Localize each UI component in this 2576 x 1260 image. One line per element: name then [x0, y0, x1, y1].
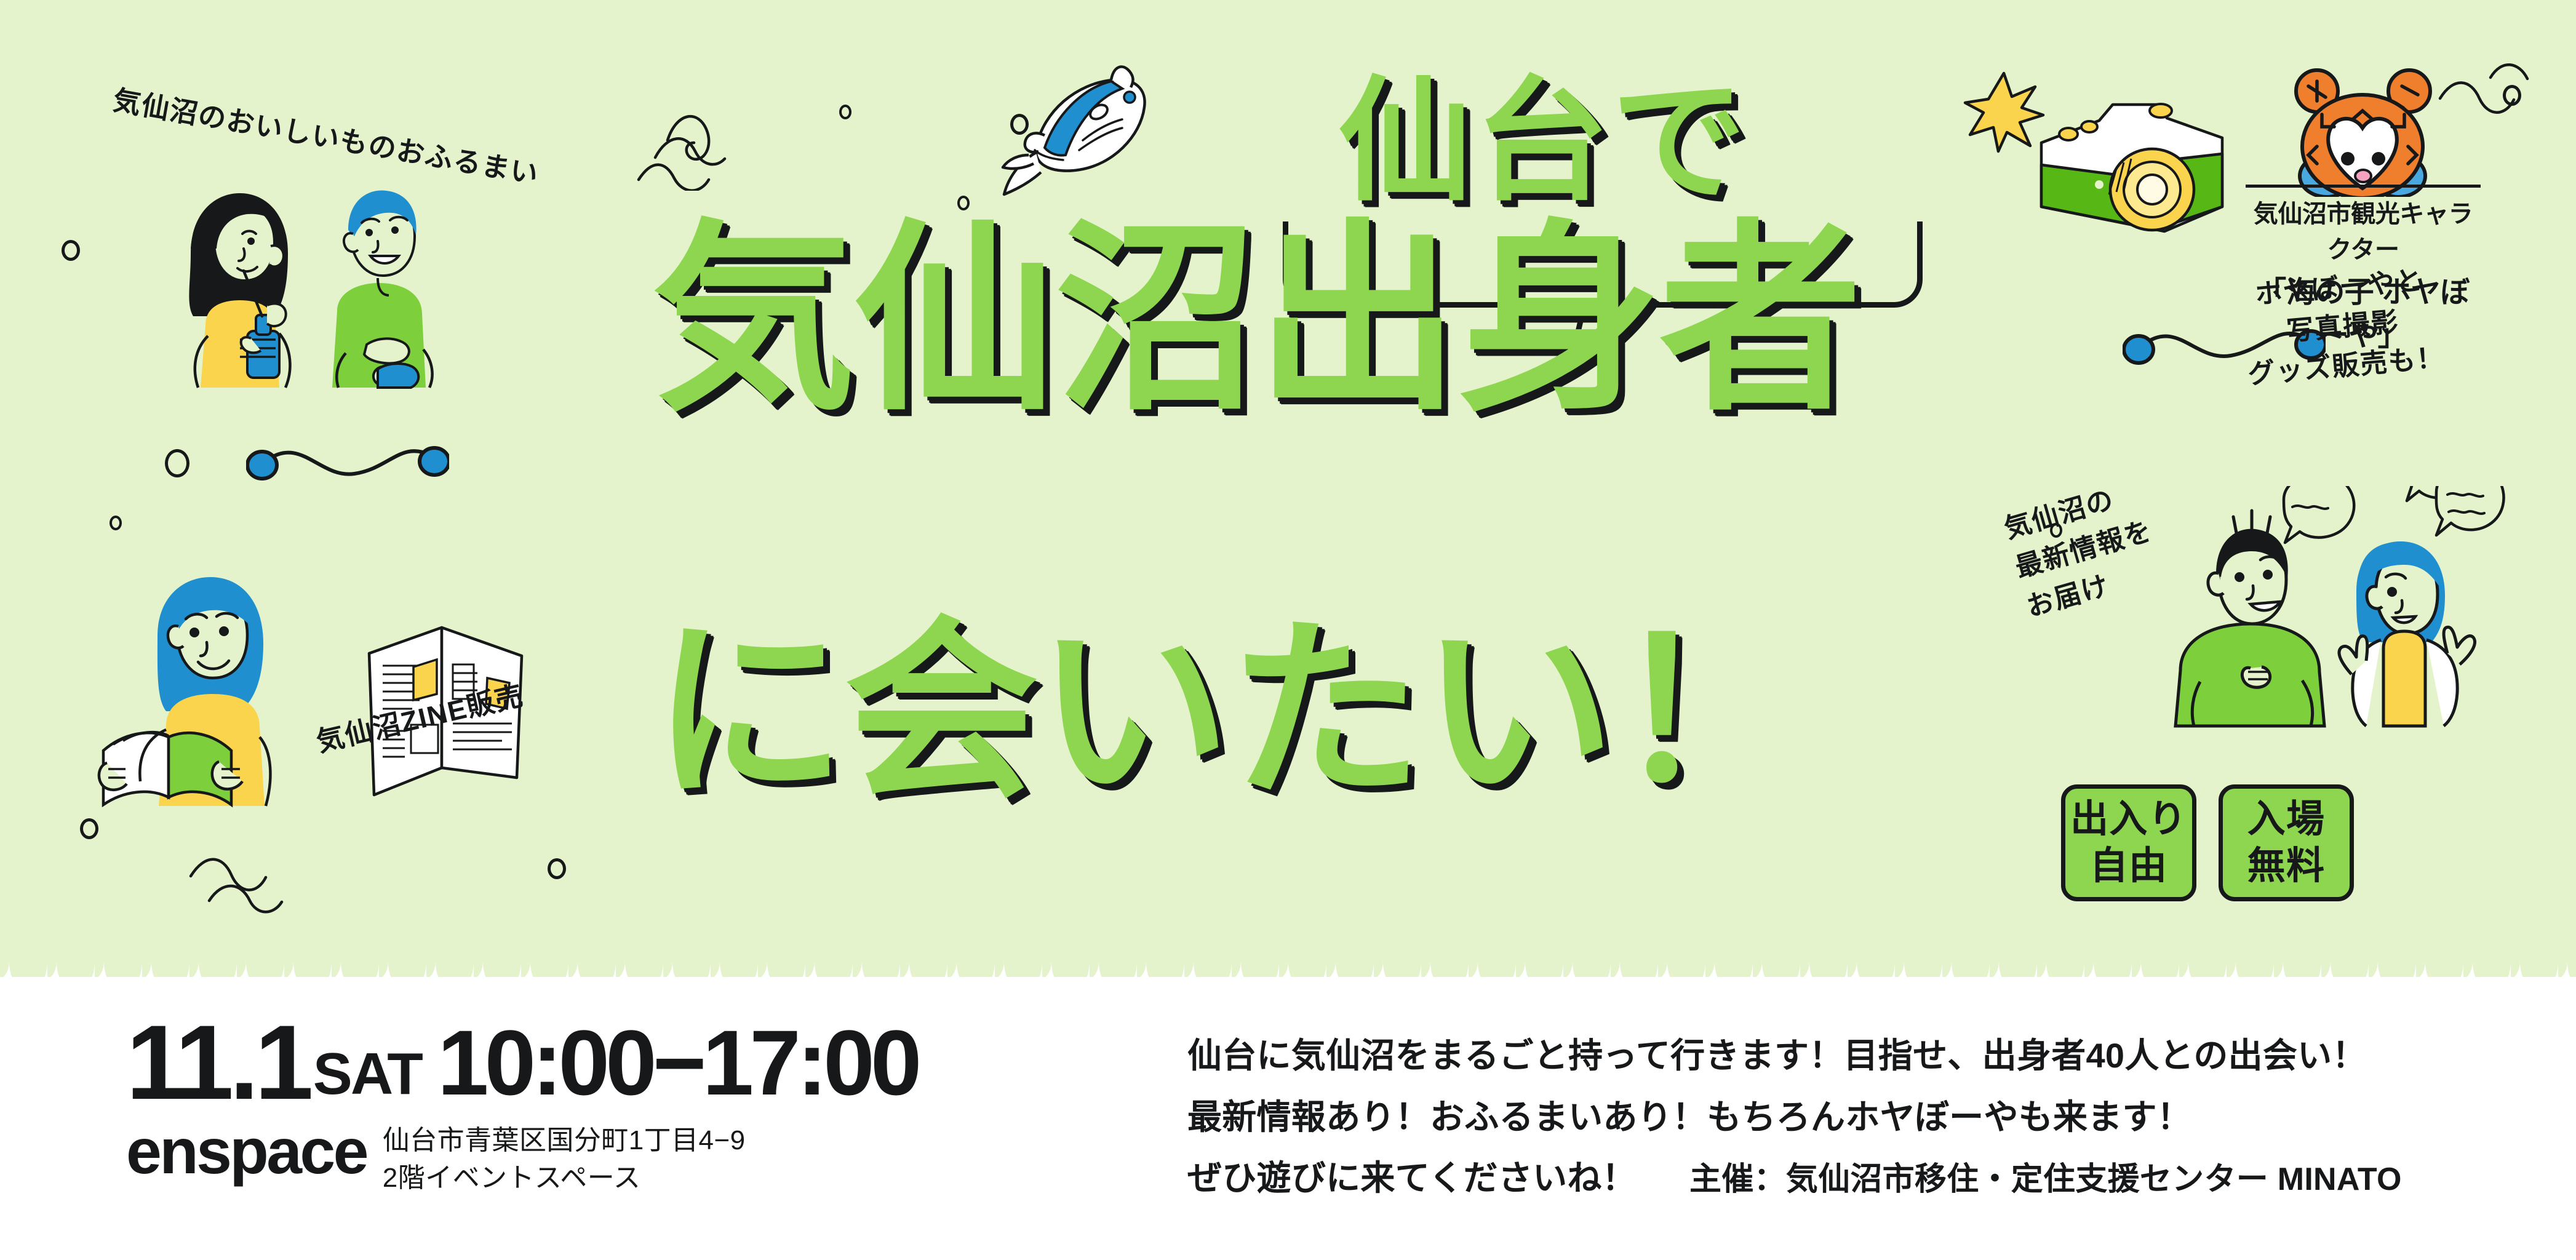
caption-photo: ホヤぼーやと 写真撮影 グッズ販売も！ [2239, 260, 2446, 394]
event-time: 10:00−17:00 [437, 1016, 918, 1111]
mascot-hoyaboya-icon [2276, 68, 2449, 197]
description-line-3-row: ぜひ遊びに来てくださいね！ 主催：気仙沼市移住・定住支援センター MINATO [1187, 1147, 2402, 1209]
bubble-icon [548, 858, 566, 879]
bubble-icon [165, 449, 189, 477]
venue-row: enspace 仙台市青葉区国分町1丁目4−9 2階イベントスペース [126, 1120, 918, 1197]
illustration-couple-eating [134, 185, 479, 394]
description-line-1: 仙台に気仙沼をまるごと持って行きます！目指せ、出身者40人との出会い！ [1187, 1025, 2402, 1087]
page-title-line-1: 気仙沼出身者 [652, 218, 1860, 421]
bubble-icon [2503, 85, 2521, 106]
bubble-icon [110, 516, 122, 530]
illustration-people-chatting [2172, 486, 2516, 732]
badge-line1: 入場 [2247, 796, 2325, 843]
mascot-label-line1: 気仙沼市観光キャラクター [2246, 194, 2481, 265]
camera-icon [2030, 86, 2233, 240]
badge-free-admission[interactable]: 入場 無料 [2219, 784, 2354, 901]
badge-line2: 自由 [2090, 843, 2167, 890]
bubble-icon [839, 105, 851, 119]
event-details: 11.1 SAT 10:00−17:00 enspace 仙台市青葉区国分町1丁… [126, 1014, 918, 1197]
description-line-3: ぜひ遊びに来てくださいね！ [1187, 1147, 1637, 1209]
event-date: 11.1 [126, 1014, 309, 1111]
badge-line1: 出入り [2070, 796, 2187, 843]
info-bar: 11.1 SAT 10:00−17:00 enspace 仙台市青葉区国分町1丁… [0, 977, 2576, 1260]
badge-line2: 無料 [2247, 843, 2325, 890]
sparkle-icon [1963, 71, 2046, 154]
kelp-doodle-left [246, 431, 449, 511]
event-day-of-week: SAT [313, 1045, 421, 1111]
wave-doodle-top-right [2436, 55, 2566, 129]
date-time-row: 11.1 SAT 10:00−17:00 [126, 1014, 918, 1111]
organizer: 主催：気仙沼市移住・定住支援センター MINATO [1689, 1151, 2402, 1208]
page-title-line-2: に会いたい！ [652, 615, 1806, 809]
title-kicker: 仙台で [1338, 75, 1749, 209]
wave-doodle-lower-left [185, 837, 332, 917]
venue-address: 仙台市青葉区国分町1丁目4−9 2階イベントスペース [383, 1122, 746, 1197]
badge-group: 出入り 自由 入場 無料 [2061, 784, 2354, 901]
bubble-icon [80, 818, 98, 839]
event-poster: 仙台で 気仙沼出身者 に会いたい！ [0, 0, 2576, 1260]
bubble-icon [62, 240, 80, 261]
fish-icon [991, 62, 1157, 203]
event-description: 仙台に気仙沼をまるごと持って行きます！目指せ、出身者40人との出会い！ 最新情報… [1187, 1025, 2402, 1209]
illustration-woman-reading [92, 572, 357, 812]
badge-free-entry-exit[interactable]: 出入り 自由 [2061, 784, 2196, 901]
description-line-2: 最新情報あり！おふるまいあり！もちろんホヤぼーやも来ます！ [1187, 1087, 2402, 1148]
wave-doodle-top [634, 86, 794, 191]
venue-name: enspace [126, 1120, 367, 1184]
